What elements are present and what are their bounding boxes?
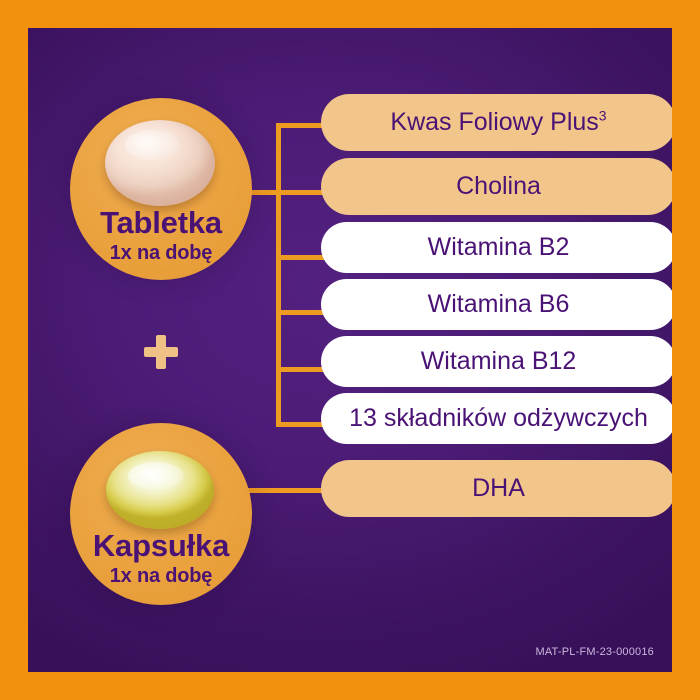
- connector-branch-6: [276, 422, 324, 427]
- plus-icon: [144, 335, 178, 369]
- ingredient-label-text: Kwas Foliowy Plus: [390, 108, 598, 136]
- dose-circle-tablet: Tabletka 1x na dobę: [70, 98, 252, 280]
- connector-branch-4: [276, 310, 324, 315]
- dose-circle-capsule: Kapsułka 1x na dobę: [70, 423, 252, 605]
- ingredient-pill-cholina[interactable]: Cholina: [321, 158, 672, 215]
- ingredient-label: Kwas Foliowy Plus3: [390, 110, 606, 135]
- softgel-capsule-icon: [106, 451, 214, 529]
- ingredient-label-text: Cholina: [456, 172, 541, 200]
- ingredient-label: Cholina: [456, 174, 541, 199]
- dose-title-capsule: Kapsułka: [70, 529, 252, 563]
- ingredient-label-text: Witamina B6: [428, 290, 570, 318]
- ingredient-label: 13 składników odżywczych: [349, 406, 648, 431]
- ingredient-label: Witamina B6: [428, 292, 570, 317]
- connector-branch-2: [276, 190, 324, 195]
- regulatory-code: MAT-PL-FM-23-000016: [535, 646, 654, 658]
- ingredient-pill-kwas-foliowy-plus[interactable]: Kwas Foliowy Plus3: [321, 94, 672, 151]
- dose-title-tablet: Tabletka: [70, 206, 252, 240]
- ingredient-label-text: Witamina B12: [421, 347, 577, 375]
- purple-panel: Tabletka 1x na dobę Kapsułka 1x na dobę …: [28, 28, 672, 672]
- connector-branch-1: [276, 123, 324, 128]
- infographic-canvas: Tabletka 1x na dobę Kapsułka 1x na dobę …: [0, 0, 700, 700]
- ingredient-label: DHA: [472, 476, 525, 501]
- ingredient-pill-witamina-b6[interactable]: Witamina B6: [321, 279, 672, 330]
- ingredient-pill-witamina-b2[interactable]: Witamina B2: [321, 222, 672, 273]
- plus-icon-vertical-bar: [156, 335, 166, 369]
- ingredient-pill-witamina-b12[interactable]: Witamina B12: [321, 336, 672, 387]
- ingredient-pill-dha[interactable]: DHA: [321, 460, 672, 517]
- dose-subtitle-capsule: 1x na dobę: [70, 564, 252, 588]
- ingredient-label: Witamina B12: [421, 349, 577, 374]
- ingredient-label-superscript: 3: [599, 108, 607, 124]
- connector-branch-5: [276, 367, 324, 372]
- ingredient-label-text: DHA: [472, 474, 525, 502]
- ingredient-label-text: Witamina B2: [428, 233, 570, 261]
- ingredient-label: Witamina B2: [428, 235, 570, 260]
- round-tablet-icon: [105, 120, 215, 206]
- ingredient-label-text: 13 składników odżywczych: [349, 404, 648, 432]
- connector-trunk-tablet: [276, 123, 281, 427]
- connector-branch-3: [276, 255, 324, 260]
- dose-subtitle-tablet: 1x na dobę: [70, 241, 252, 265]
- ingredient-pill-13-skladnikow[interactable]: 13 składników odżywczych: [321, 393, 672, 444]
